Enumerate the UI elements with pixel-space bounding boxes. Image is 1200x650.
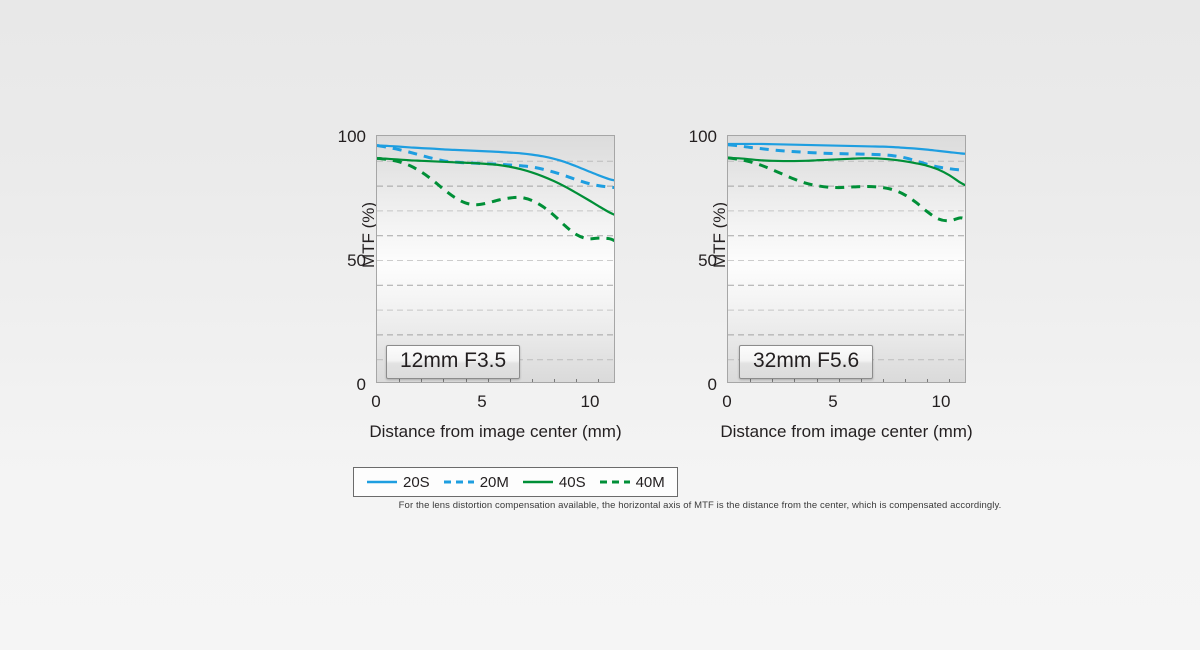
series-40S	[728, 158, 966, 186]
legend-label-40M: 40M	[636, 475, 665, 490]
legend-label-40S: 40S	[559, 475, 586, 490]
footnote-text: For the lens distortion compensation ava…	[350, 500, 1050, 511]
mtf-chart-page: MTF (%) 100 50 0 12mm F3.5 0 5 10 Distan…	[0, 0, 1200, 650]
series-lines-left	[377, 145, 615, 241]
legend-item-40S: 40S	[522, 475, 586, 490]
y-tick-100-left: 100	[322, 128, 366, 145]
y-tick-0-left: 0	[322, 376, 366, 393]
x-tick-5-right: 5	[818, 392, 848, 412]
legend-item-20M: 20M	[443, 475, 509, 490]
legend-item-20S: 20S	[366, 475, 430, 490]
series-lines-right	[728, 144, 966, 221]
series-40M	[377, 158, 615, 241]
legend-label-20S: 20S	[403, 475, 430, 490]
legend-label-20M: 20M	[480, 475, 509, 490]
x-axis-label-right: Distance from image center (mm)	[651, 422, 1042, 442]
legend-swatch-20S-icon	[366, 476, 398, 488]
spec-label-12mm: 12mm F3.5	[386, 345, 520, 379]
y-tick-100-right: 100	[673, 128, 717, 145]
x-tick-0-left: 0	[361, 392, 391, 412]
chart-legend: 20S20M40S40M	[353, 467, 678, 497]
x-tick-10-left: 10	[575, 392, 605, 412]
legend-swatch-20M-icon	[443, 476, 475, 488]
y-tick-50-right: 50	[673, 252, 717, 269]
x-axis-label-left: Distance from image center (mm)	[300, 422, 691, 442]
spec-label-32mm: 32mm F5.6	[739, 345, 873, 379]
legend-swatch-40M-icon	[599, 476, 631, 488]
legend-swatch-40S-icon	[522, 476, 554, 488]
y-tick-0-right: 0	[673, 376, 717, 393]
x-tick-5-left: 5	[467, 392, 497, 412]
legend-item-40M: 40M	[599, 475, 665, 490]
x-tick-10-right: 10	[926, 392, 956, 412]
y-tick-50-left: 50	[322, 252, 366, 269]
x-tick-0-right: 0	[712, 392, 742, 412]
